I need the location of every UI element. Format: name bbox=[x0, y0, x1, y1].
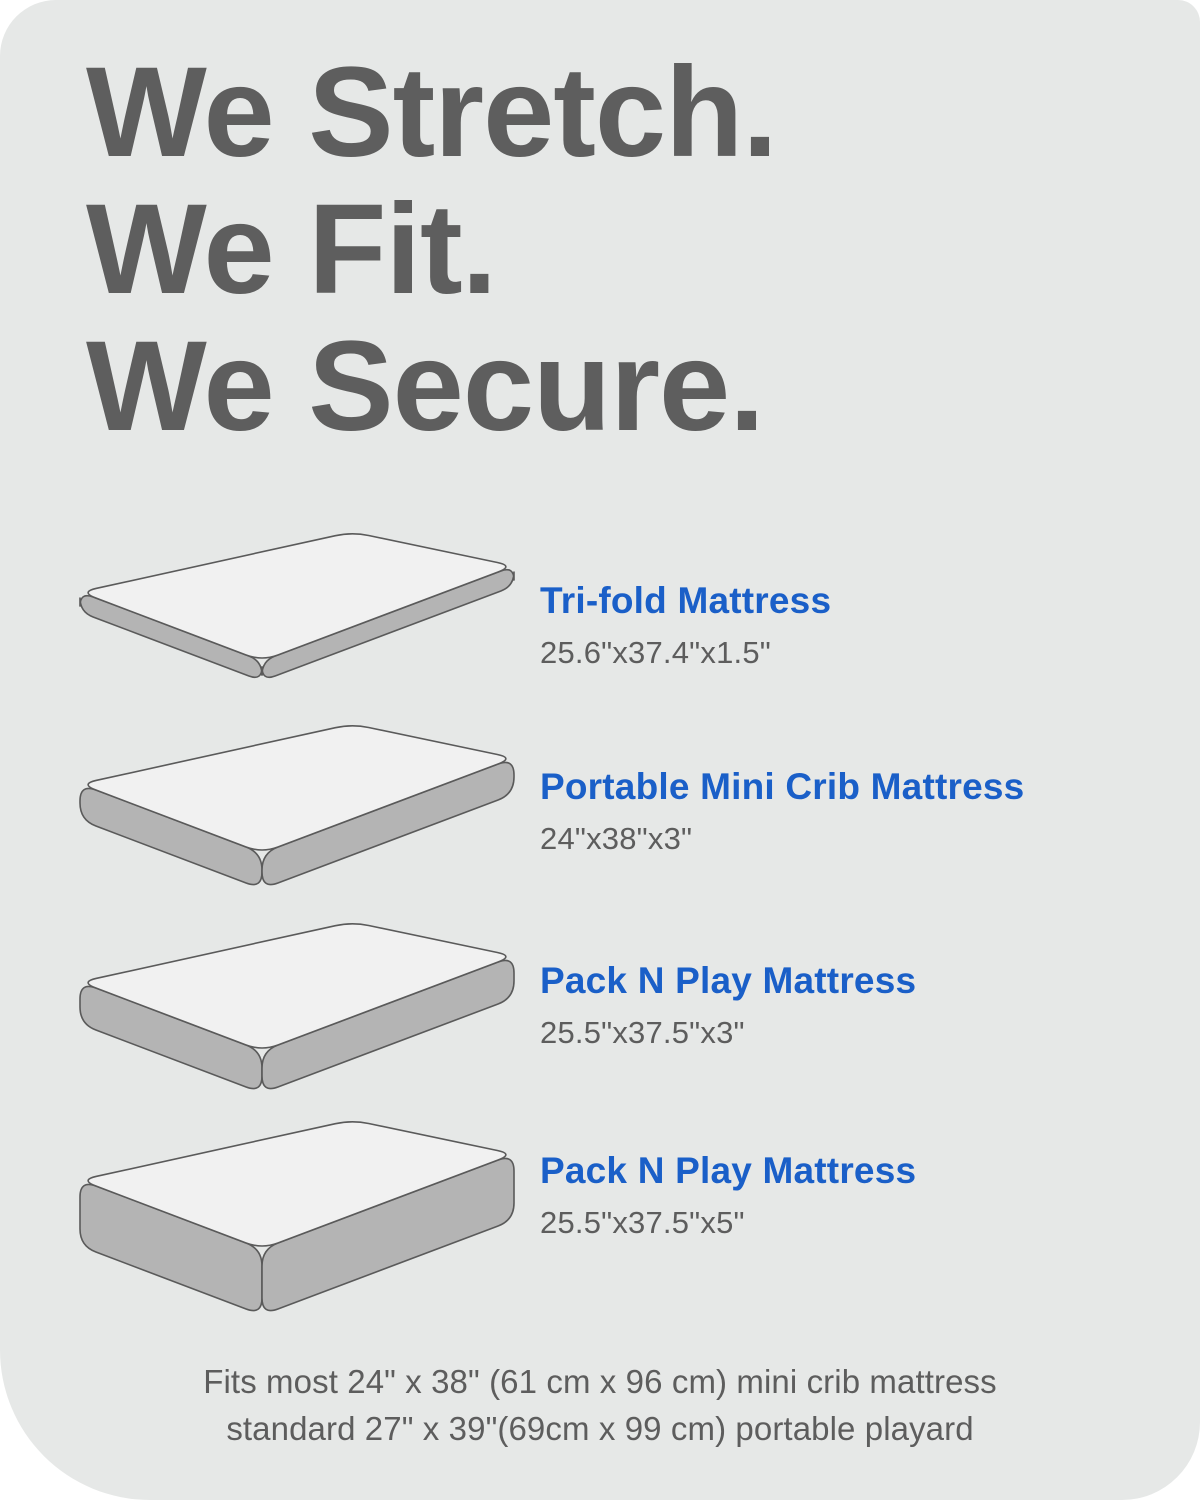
headline-line-2: We Fit. bbox=[86, 181, 1086, 318]
footer-line-2: standard 27" x 39"(69cm x 99 cm) portabl… bbox=[0, 1405, 1200, 1452]
mattress-slab-icon bbox=[62, 920, 532, 1120]
mattress-illustration-0 bbox=[62, 530, 532, 730]
product-dimensions: 25.6"x37.4"x1.5" bbox=[540, 634, 1180, 672]
headline-line-1: We Stretch. bbox=[86, 44, 1086, 181]
product-name: Pack N Play Mattress bbox=[540, 958, 1180, 1004]
product-text-2: Pack N Play Mattress 25.5"x37.5"x3" bbox=[540, 958, 1180, 1052]
product-text-0: Tri-fold Mattress 25.6"x37.4"x1.5" bbox=[540, 578, 1180, 672]
mattress-slab-icon bbox=[62, 530, 532, 730]
infographic-card: We Stretch. We Fit. We Secure. Tri-fold … bbox=[0, 0, 1200, 1500]
product-name: Tri-fold Mattress bbox=[540, 578, 1180, 624]
product-row: Portable Mini Crib Mattress 24"x38"x3" bbox=[0, 722, 1200, 912]
headline-line-3: We Secure. bbox=[86, 318, 1086, 455]
product-name: Portable Mini Crib Mattress bbox=[540, 764, 1180, 810]
product-text-1: Portable Mini Crib Mattress 24"x38"x3" bbox=[540, 764, 1180, 858]
mattress-illustration-2 bbox=[62, 920, 532, 1120]
product-dimensions: 25.5"x37.5"x5" bbox=[540, 1204, 1180, 1242]
footer-note: Fits most 24" x 38" (61 cm x 96 cm) mini… bbox=[0, 1358, 1200, 1452]
headline-block: We Stretch. We Fit. We Secure. bbox=[86, 44, 1086, 455]
mattress-slab-icon bbox=[62, 1118, 532, 1318]
product-row: Pack N Play Mattress 25.5"x37.5"x3" bbox=[0, 920, 1200, 1110]
mattress-slab-icon bbox=[62, 722, 532, 922]
product-row: Tri-fold Mattress 25.6"x37.4"x1.5" bbox=[0, 530, 1200, 720]
product-dimensions: 24"x38"x3" bbox=[540, 820, 1180, 858]
footer-line-1: Fits most 24" x 38" (61 cm x 96 cm) mini… bbox=[0, 1358, 1200, 1405]
product-text-3: Pack N Play Mattress 25.5"x37.5"x5" bbox=[540, 1148, 1180, 1242]
product-row: Pack N Play Mattress 25.5"x37.5"x5" bbox=[0, 1118, 1200, 1308]
mattress-illustration-3 bbox=[62, 1118, 532, 1318]
product-dimensions: 25.5"x37.5"x3" bbox=[540, 1014, 1180, 1052]
mattress-illustration-1 bbox=[62, 722, 532, 922]
product-name: Pack N Play Mattress bbox=[540, 1148, 1180, 1194]
